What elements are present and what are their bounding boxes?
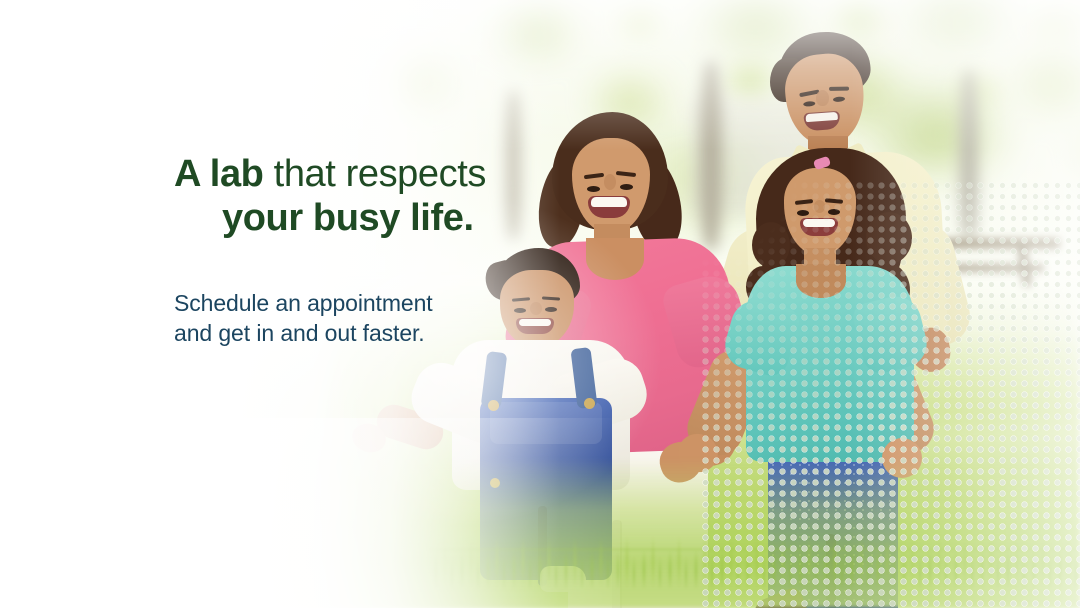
page-title: A lab that respects your busy life. [174, 152, 654, 240]
subheading-line-1: Schedule an appointment [174, 288, 654, 318]
girl-mouth [800, 218, 838, 236]
girl-nose [814, 200, 825, 213]
headline-line-2: your busy life. [174, 196, 654, 240]
headline-emphasis: A lab [174, 153, 264, 195]
girl-neckline [796, 264, 846, 298]
fade-right [850, 0, 1080, 608]
headline-rest: that respects [264, 153, 487, 195]
subheading: Schedule an appointment and get in and o… [174, 288, 654, 348]
boy-overall-button-right [584, 398, 595, 409]
fade-bottom-left [0, 418, 620, 608]
hero-copy: A lab that respects your busy life. Sche… [174, 152, 654, 348]
subheading-line-2: and get in and out faster. [174, 318, 654, 348]
hero-banner: A lab that respects your busy life. Sche… [0, 0, 1080, 608]
